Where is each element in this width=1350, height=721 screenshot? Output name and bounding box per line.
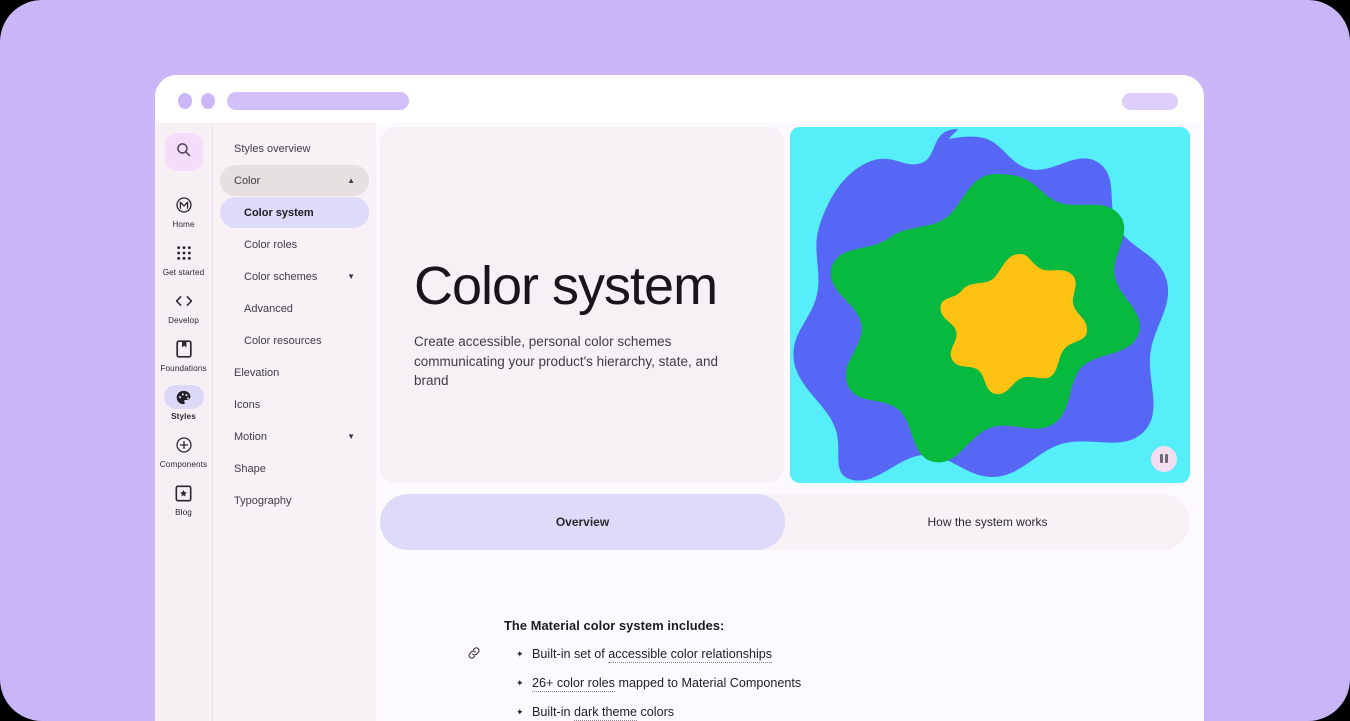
nav-item-advanced[interactable]: Advanced xyxy=(220,293,369,324)
nav-label: Color xyxy=(234,175,260,187)
rail-item-styles[interactable]: Styles xyxy=(155,383,212,422)
chevron-down-icon[interactable]: ▼ xyxy=(347,433,355,441)
rail-item-blog[interactable]: Blog xyxy=(155,479,212,518)
nav-label: Icons xyxy=(234,399,260,411)
rail-label-get-started: Get started xyxy=(163,268,205,278)
palette-icon xyxy=(164,385,204,409)
list-item: ✦ 26+ color roles mapped to Material Com… xyxy=(504,675,924,691)
nav-item-color-schemes[interactable]: Color schemes▼ xyxy=(220,261,369,292)
abstract-blob-artwork xyxy=(790,127,1190,483)
chrome-action-pill[interactable] xyxy=(1122,93,1178,110)
nav-label: Color system xyxy=(244,207,314,219)
nav-label: Advanced xyxy=(244,303,293,315)
rail-label-develop: Develop xyxy=(168,316,199,326)
nav-label: Styles overview xyxy=(234,143,310,155)
nav-item-icons[interactable]: Icons xyxy=(220,389,369,420)
article-heading: The Material color system includes: xyxy=(504,618,924,633)
tab-label: Overview xyxy=(556,515,609,529)
article-body: The Material color system includes: ✦ Bu… xyxy=(504,618,924,721)
nav-label: Shape xyxy=(234,463,266,475)
rail-item-home[interactable]: Home xyxy=(155,191,212,230)
hero-section: Color system Create accessible, personal… xyxy=(376,123,1204,487)
rail-item-components[interactable]: Components xyxy=(155,431,212,470)
chevron-up-icon[interactable]: ▲ xyxy=(347,177,355,185)
tab-label: How the system works xyxy=(927,515,1047,529)
rail-label-components: Components xyxy=(160,460,207,470)
nav-label: Color resources xyxy=(244,335,322,347)
nav-panel: Styles overview Color▲ Color system Colo… xyxy=(212,123,376,721)
list-item-text: 26+ color roles mapped to Material Compo… xyxy=(532,675,801,691)
url-bar[interactable] xyxy=(227,92,409,110)
list-item-prefix: Built-in xyxy=(532,705,574,719)
hero-media xyxy=(790,127,1190,483)
tab-bar: Overview How the system works xyxy=(380,494,1190,550)
nav-item-elevation[interactable]: Elevation xyxy=(220,357,369,388)
nav-label: Color schemes xyxy=(244,271,317,283)
list-item-prefix: Built-in set of xyxy=(532,647,608,661)
article-section: The Material color system includes: ✦ Bu… xyxy=(376,550,1204,721)
tab-how-the-system-works[interactable]: How the system works xyxy=(785,494,1190,550)
star-square-icon xyxy=(164,481,204,505)
plus-circle-icon xyxy=(164,433,204,457)
nav-item-shape[interactable]: Shape xyxy=(220,453,369,484)
apps-grid-icon xyxy=(164,241,204,265)
window-dot-2[interactable] xyxy=(201,93,215,109)
list-item-link[interactable]: dark theme xyxy=(574,705,637,721)
icon-rail: Home Get started xyxy=(155,123,212,721)
hero-card: Color system Create accessible, personal… xyxy=(380,127,784,483)
nav-item-motion[interactable]: Motion▼ xyxy=(220,421,369,452)
window-dot-1[interactable] xyxy=(178,93,192,109)
list-item-suffix: mapped to Material Components xyxy=(615,676,801,690)
nav-label: Typography xyxy=(234,495,291,507)
browser-window: Home Get started xyxy=(155,75,1204,721)
main-content: Color system Create accessible, personal… xyxy=(376,123,1204,721)
search-button[interactable] xyxy=(165,133,203,171)
page-background: Home Get started xyxy=(0,0,1350,721)
rail-label-home: Home xyxy=(172,220,194,230)
page-title: Color system xyxy=(414,255,750,318)
list-item-link[interactable]: 26+ color roles xyxy=(532,676,615,692)
list-item-text: Built-in set of accessible color relatio… xyxy=(532,646,772,662)
nav-item-color-system[interactable]: Color system xyxy=(220,197,369,228)
nav-item-typography[interactable]: Typography xyxy=(220,485,369,516)
search-icon xyxy=(175,141,192,163)
sparkle-bullet-icon: ✦ xyxy=(516,675,532,691)
rail-label-styles: Styles xyxy=(171,412,196,422)
nav-item-color-resources[interactable]: Color resources xyxy=(220,325,369,356)
rail-label-blog: Blog xyxy=(175,508,192,518)
rail-item-develop[interactable]: Develop xyxy=(155,287,212,326)
list-item: ✦ Built-in dark theme colors xyxy=(504,704,924,720)
nav-item-color[interactable]: Color▲ xyxy=(220,165,369,196)
chevron-down-icon[interactable]: ▼ xyxy=(347,273,355,281)
rail-item-get-started[interactable]: Get started xyxy=(155,239,212,278)
app-body: Home Get started xyxy=(155,123,1204,721)
media-pause-button[interactable] xyxy=(1151,446,1177,472)
nav-item-color-roles[interactable]: Color roles xyxy=(220,229,369,260)
nav-item-styles-overview[interactable]: Styles overview xyxy=(220,133,369,164)
list-item-link[interactable]: accessible color relationships xyxy=(608,647,772,663)
tab-overview[interactable]: Overview xyxy=(380,494,785,550)
sparkle-bullet-icon: ✦ xyxy=(516,646,532,662)
browser-chrome xyxy=(155,75,1204,123)
sparkle-bullet-icon: ✦ xyxy=(516,704,532,720)
list-item-suffix: colors xyxy=(637,705,674,719)
list-item: ✦ Built-in set of accessible color relat… xyxy=(504,646,924,662)
code-brackets-icon xyxy=(164,289,204,313)
nav-label: Color roles xyxy=(244,239,297,251)
list-item-text: Built-in dark theme colors xyxy=(532,704,674,720)
link-icon[interactable] xyxy=(466,645,482,666)
rail-label-foundations: Foundations xyxy=(160,364,206,374)
nav-label: Elevation xyxy=(234,367,279,379)
material-m-logo-icon xyxy=(164,193,204,217)
nav-label: Motion xyxy=(234,431,267,443)
page-subtitle: Create accessible, personal color scheme… xyxy=(414,332,750,391)
pause-icon xyxy=(1160,450,1168,468)
bookmark-icon xyxy=(164,337,204,361)
rail-item-foundations[interactable]: Foundations xyxy=(155,335,212,374)
